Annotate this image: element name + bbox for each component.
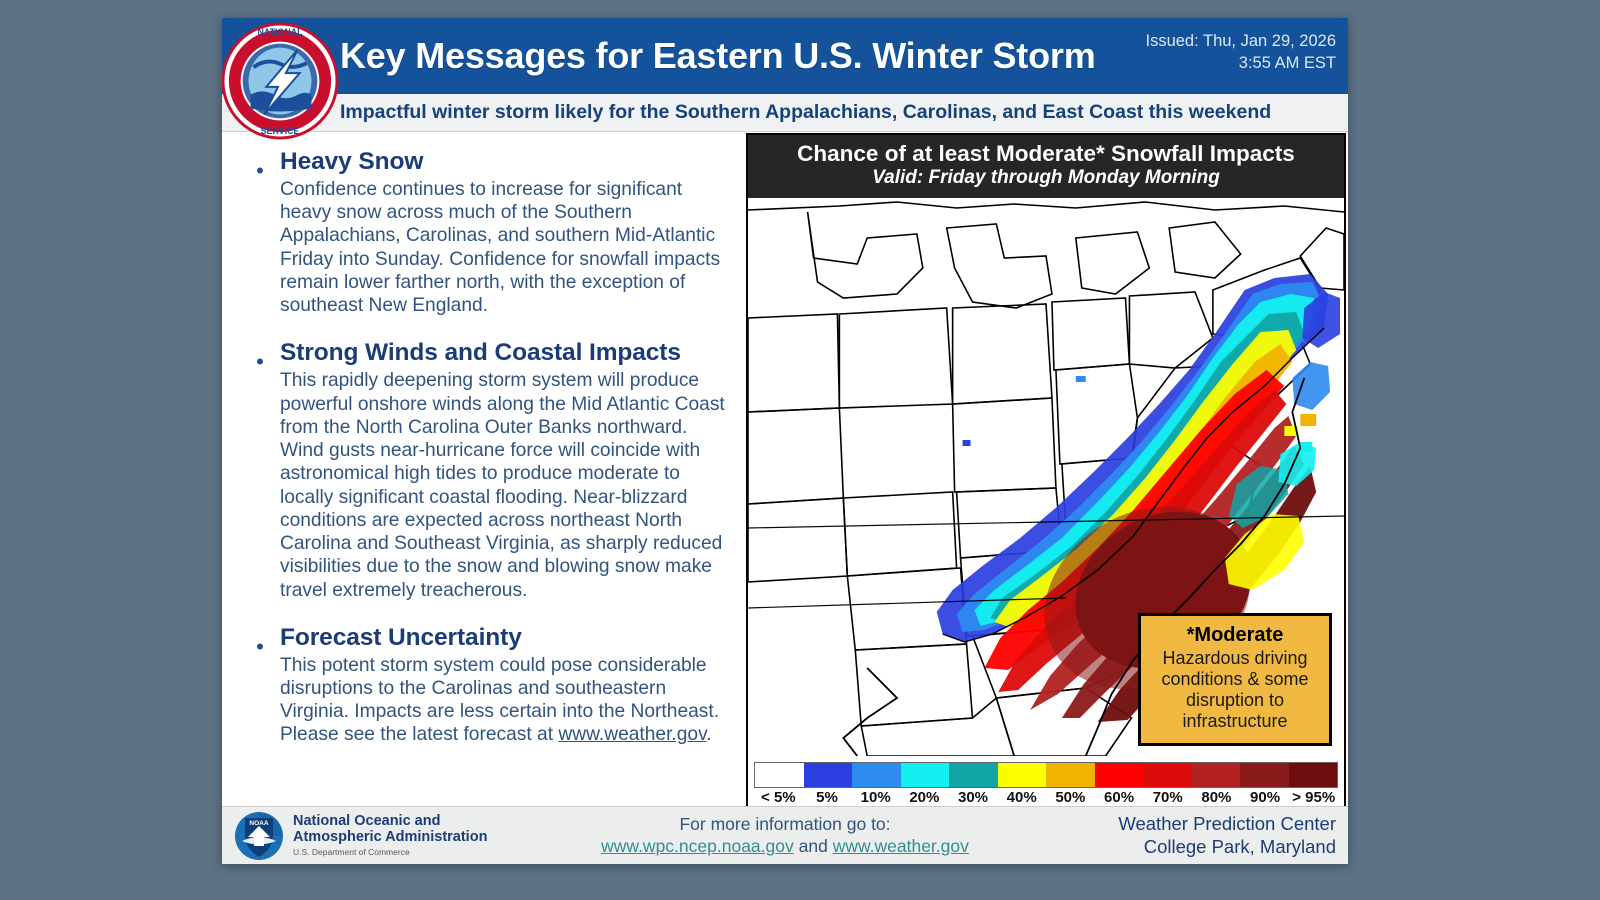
key-messages-list: • Heavy Snow Confidence continues to inc… — [222, 132, 746, 806]
legend-swatch — [755, 763, 804, 787]
key-message-item: • Heavy Snow Confidence continues to inc… — [240, 148, 736, 317]
legend-label: > 95% — [1289, 789, 1338, 806]
weather-gov-footer-link[interactable]: www.weather.gov — [833, 836, 969, 856]
map-column: Chance of at least Moderate* Snowfall Im… — [746, 132, 1348, 806]
key-message-title: Strong Winds and Coastal Impacts — [280, 339, 736, 367]
poster-header: NATIONAL SERVICE Key Messages for Easter… — [222, 18, 1348, 94]
legend-label: < 5% — [754, 789, 803, 806]
weather-gov-link[interactable]: www.weather.gov — [558, 724, 706, 745]
poster-subheader: Impactful winter storm likely for the So… — [222, 94, 1348, 132]
legend-swatch — [1143, 763, 1192, 787]
key-message-title: Forecast Uncertainty — [280, 624, 736, 652]
legend-swatch — [1240, 763, 1289, 787]
svg-text:SERVICE: SERVICE — [261, 126, 300, 136]
legend-swatch — [852, 763, 901, 787]
legend-swatch — [1095, 763, 1144, 787]
key-message-body: This rapidly deepening storm system will… — [280, 369, 736, 601]
key-message-body: Confidence continues to increase for sig… — [280, 178, 736, 317]
key-message-item: • Strong Winds and Coastal Impacts This … — [240, 339, 736, 601]
key-message-title: Heavy Snow — [280, 148, 736, 176]
callout-text: Hazardous driving conditions & some disr… — [1147, 648, 1323, 733]
legend-label: 20% — [900, 789, 949, 806]
legend-swatch — [998, 763, 1047, 787]
bullet-icon: • — [240, 148, 280, 317]
office-name: Weather Prediction Center — [1118, 813, 1336, 836]
bullet-icon: • — [240, 339, 280, 601]
issued-date: Issued: Thu, Jan 29, 2026 — [1146, 30, 1337, 52]
legend-label: 80% — [1192, 789, 1241, 806]
issued-time: 3:55 AM EST — [1146, 52, 1337, 74]
key-messages-poster: NATIONAL SERVICE Key Messages for Easter… — [222, 18, 1348, 864]
poster-body: • Heavy Snow Confidence continues to inc… — [222, 132, 1348, 806]
legend-label: 70% — [1143, 789, 1192, 806]
legend-swatch — [949, 763, 998, 787]
link-separator: and — [794, 836, 833, 856]
legend-labels: < 5%5%10%20%30%40%50%60%70%80%90%> 95% — [754, 789, 1338, 806]
legend-swatch — [804, 763, 853, 787]
legend-swatch — [1192, 763, 1241, 787]
screenshot-root: NATIONAL SERVICE Key Messages for Easter… — [0, 0, 1600, 900]
legend-swatch — [1046, 763, 1095, 787]
legend-swatch — [1289, 763, 1338, 787]
legend-label: 50% — [1046, 789, 1095, 806]
map-title-bar: Chance of at least Moderate* Snowfall Im… — [746, 133, 1346, 198]
issued-timestamp: Issued: Thu, Jan 29, 2026 3:55 AM EST — [1146, 30, 1337, 75]
legend-label: 30% — [949, 789, 998, 806]
bullet-icon: • — [240, 624, 280, 747]
moderate-definition-callout: *Moderate Hazardous driving conditions &… — [1138, 613, 1332, 746]
snowfall-impact-map-panel: Chance of at least Moderate* Snowfall Im… — [746, 133, 1346, 805]
key-message-body: This potent storm system could pose cons… — [280, 654, 736, 747]
legend-label: 90% — [1241, 789, 1290, 806]
wpc-link[interactable]: www.wpc.ncep.noaa.gov — [601, 836, 794, 856]
legend-swatch — [901, 763, 950, 787]
body-text-after-link: . — [706, 724, 711, 745]
subheader-text: Impactful winter storm likely for the So… — [340, 101, 1271, 124]
probability-legend: < 5%5%10%20%30%40%50%60%70%80%90%> 95% — [746, 756, 1346, 810]
page-title: Key Messages for Eastern U.S. Winter Sto… — [340, 35, 1096, 77]
map-canvas[interactable]: *Moderate Hazardous driving conditions &… — [746, 198, 1346, 756]
map-title: Chance of at least Moderate* Snowfall Im… — [748, 141, 1344, 167]
legend-label: 5% — [803, 789, 852, 806]
legend-label: 40% — [997, 789, 1046, 806]
nws-seal-icon: NATIONAL SERVICE — [222, 22, 339, 140]
poster-footer: NOAA National Oceanic and Atmospheric Ad… — [222, 806, 1348, 864]
office-location: College Park, Maryland — [1118, 836, 1336, 859]
legend-swatches — [754, 762, 1338, 788]
legend-label: 10% — [851, 789, 900, 806]
issuing-office: Weather Prediction Center College Park, … — [1118, 813, 1336, 858]
map-valid-period: Valid: Friday through Monday Morning — [748, 167, 1344, 190]
svg-text:NATIONAL: NATIONAL — [257, 27, 303, 37]
legend-label: 60% — [1095, 789, 1144, 806]
key-message-item: • Forecast Uncertainty This potent storm… — [240, 624, 736, 747]
callout-title: *Moderate — [1147, 624, 1323, 647]
